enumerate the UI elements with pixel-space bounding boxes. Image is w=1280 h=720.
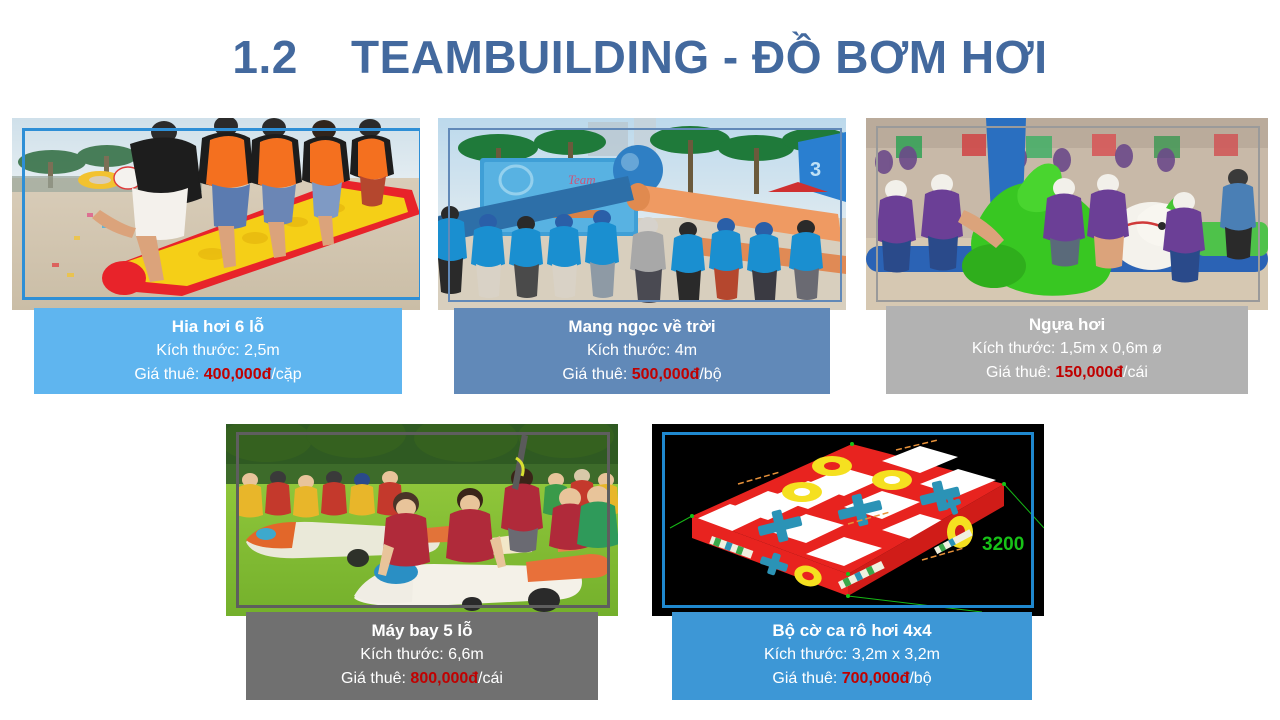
price-unit: /cái — [1123, 364, 1148, 381]
card-caption: Bộ cờ ca rô hơi 4x4 Kích thước: 3,2m x 3… — [672, 612, 1032, 700]
cad-dimension-label: 3200 — [982, 534, 1024, 555]
card-caption: Mang ngọc về trời Kích thước: 4m Giá thu… — [454, 308, 830, 394]
card-caption: Hia hơi 6 lỗ Kích thước: 2,5m Giá thuê: … — [34, 308, 402, 394]
card-title: Mang ngọc về trời — [454, 314, 830, 339]
photo-beach-tube-ball: Team Hè 2020 3 — [438, 118, 846, 310]
price-unit: /cái — [478, 670, 503, 687]
price-label: Giá thuê: — [772, 670, 841, 687]
price-value: 150,000đ — [1055, 364, 1123, 381]
card-price: Giá thuê: 150,000đ/cái — [886, 361, 1248, 385]
card-ngua-hoi[interactable]: Ngựa hơi Kích thước: 1,5m x 0,6m ø Giá t… — [866, 118, 1268, 394]
price-label: Giá thuê: — [134, 366, 203, 383]
card-mang-ngoc-ve-troi[interactable]: Team Hè 2020 3 — [438, 118, 846, 394]
svg-text:3: 3 — [810, 159, 821, 181]
card-size: Kích thước: 3,2m x 3,2m — [672, 643, 1032, 667]
card-price: Giá thuê: 800,000đ/cái — [246, 667, 598, 691]
photo-beach-shoe-inflatable — [12, 118, 420, 310]
price-value: 700,000đ — [842, 670, 910, 687]
price-value: 500,000đ — [632, 366, 700, 383]
card-bo-co-ca-ro-hoi-4x4[interactable]: 3200 Bộ cờ ca rô hơi 4x4 Kích thước: 3,2… — [652, 424, 1044, 696]
photo-tictactoe-cad-render: 3200 — [652, 424, 1044, 616]
card-photo — [12, 118, 420, 310]
card-size: Kích thước: 6,6m — [246, 643, 598, 667]
card-size: Kích thước: 1,5m x 0,6m ø — [886, 337, 1248, 361]
photo-airplane-inflatable-grass — [226, 424, 618, 616]
photo-green-horse-inflatable — [866, 118, 1268, 310]
price-label: Giá thuê: — [562, 366, 631, 383]
card-price: Giá thuê: 500,000đ/bộ — [454, 363, 830, 387]
card-caption: Ngựa hơi Kích thước: 1,5m x 0,6m ø Giá t… — [886, 306, 1248, 394]
price-value: 400,000đ — [204, 366, 272, 383]
card-price: Giá thuê: 700,000đ/bộ — [672, 667, 1032, 691]
card-title: Bộ cờ ca rô hơi 4x4 — [672, 618, 1032, 643]
card-size: Kích thước: 4m — [454, 339, 830, 363]
card-price: Giá thuê: 400,000đ/cặp — [34, 363, 402, 387]
card-photo — [866, 118, 1268, 310]
card-photo: 3200 — [652, 424, 1044, 616]
card-photo: Team Hè 2020 3 — [438, 118, 846, 310]
page-title: 1.2 TEAMBUILDING - ĐỒ BƠM HƠI — [0, 30, 1280, 84]
card-size: Kích thước: 2,5m — [34, 339, 402, 363]
price-unit: /cặp — [271, 366, 301, 383]
card-hia-hoi-6-lo[interactable]: Hia hơi 6 lỗ Kích thước: 2,5m Giá thuê: … — [12, 118, 420, 394]
card-photo — [226, 424, 618, 616]
card-may-bay-5-lo[interactable]: Máy bay 5 lỗ Kích thước: 6,6m Giá thuê: … — [226, 424, 618, 696]
price-label: Giá thuê: — [986, 364, 1055, 381]
price-label: Giá thuê: — [341, 670, 410, 687]
card-title: Ngựa hơi — [886, 312, 1248, 337]
card-title: Hia hơi 6 lỗ — [34, 314, 402, 339]
price-value: 800,000đ — [410, 670, 478, 687]
card-title: Máy bay 5 lỗ — [246, 618, 598, 643]
card-caption: Máy bay 5 lỗ Kích thước: 6,6m Giá thuê: … — [246, 612, 598, 700]
price-unit: /bộ — [699, 366, 721, 383]
slide-root: 1.2 TEAMBUILDING - ĐỒ BƠM HƠI — [0, 0, 1280, 720]
price-unit: /bộ — [909, 670, 931, 687]
